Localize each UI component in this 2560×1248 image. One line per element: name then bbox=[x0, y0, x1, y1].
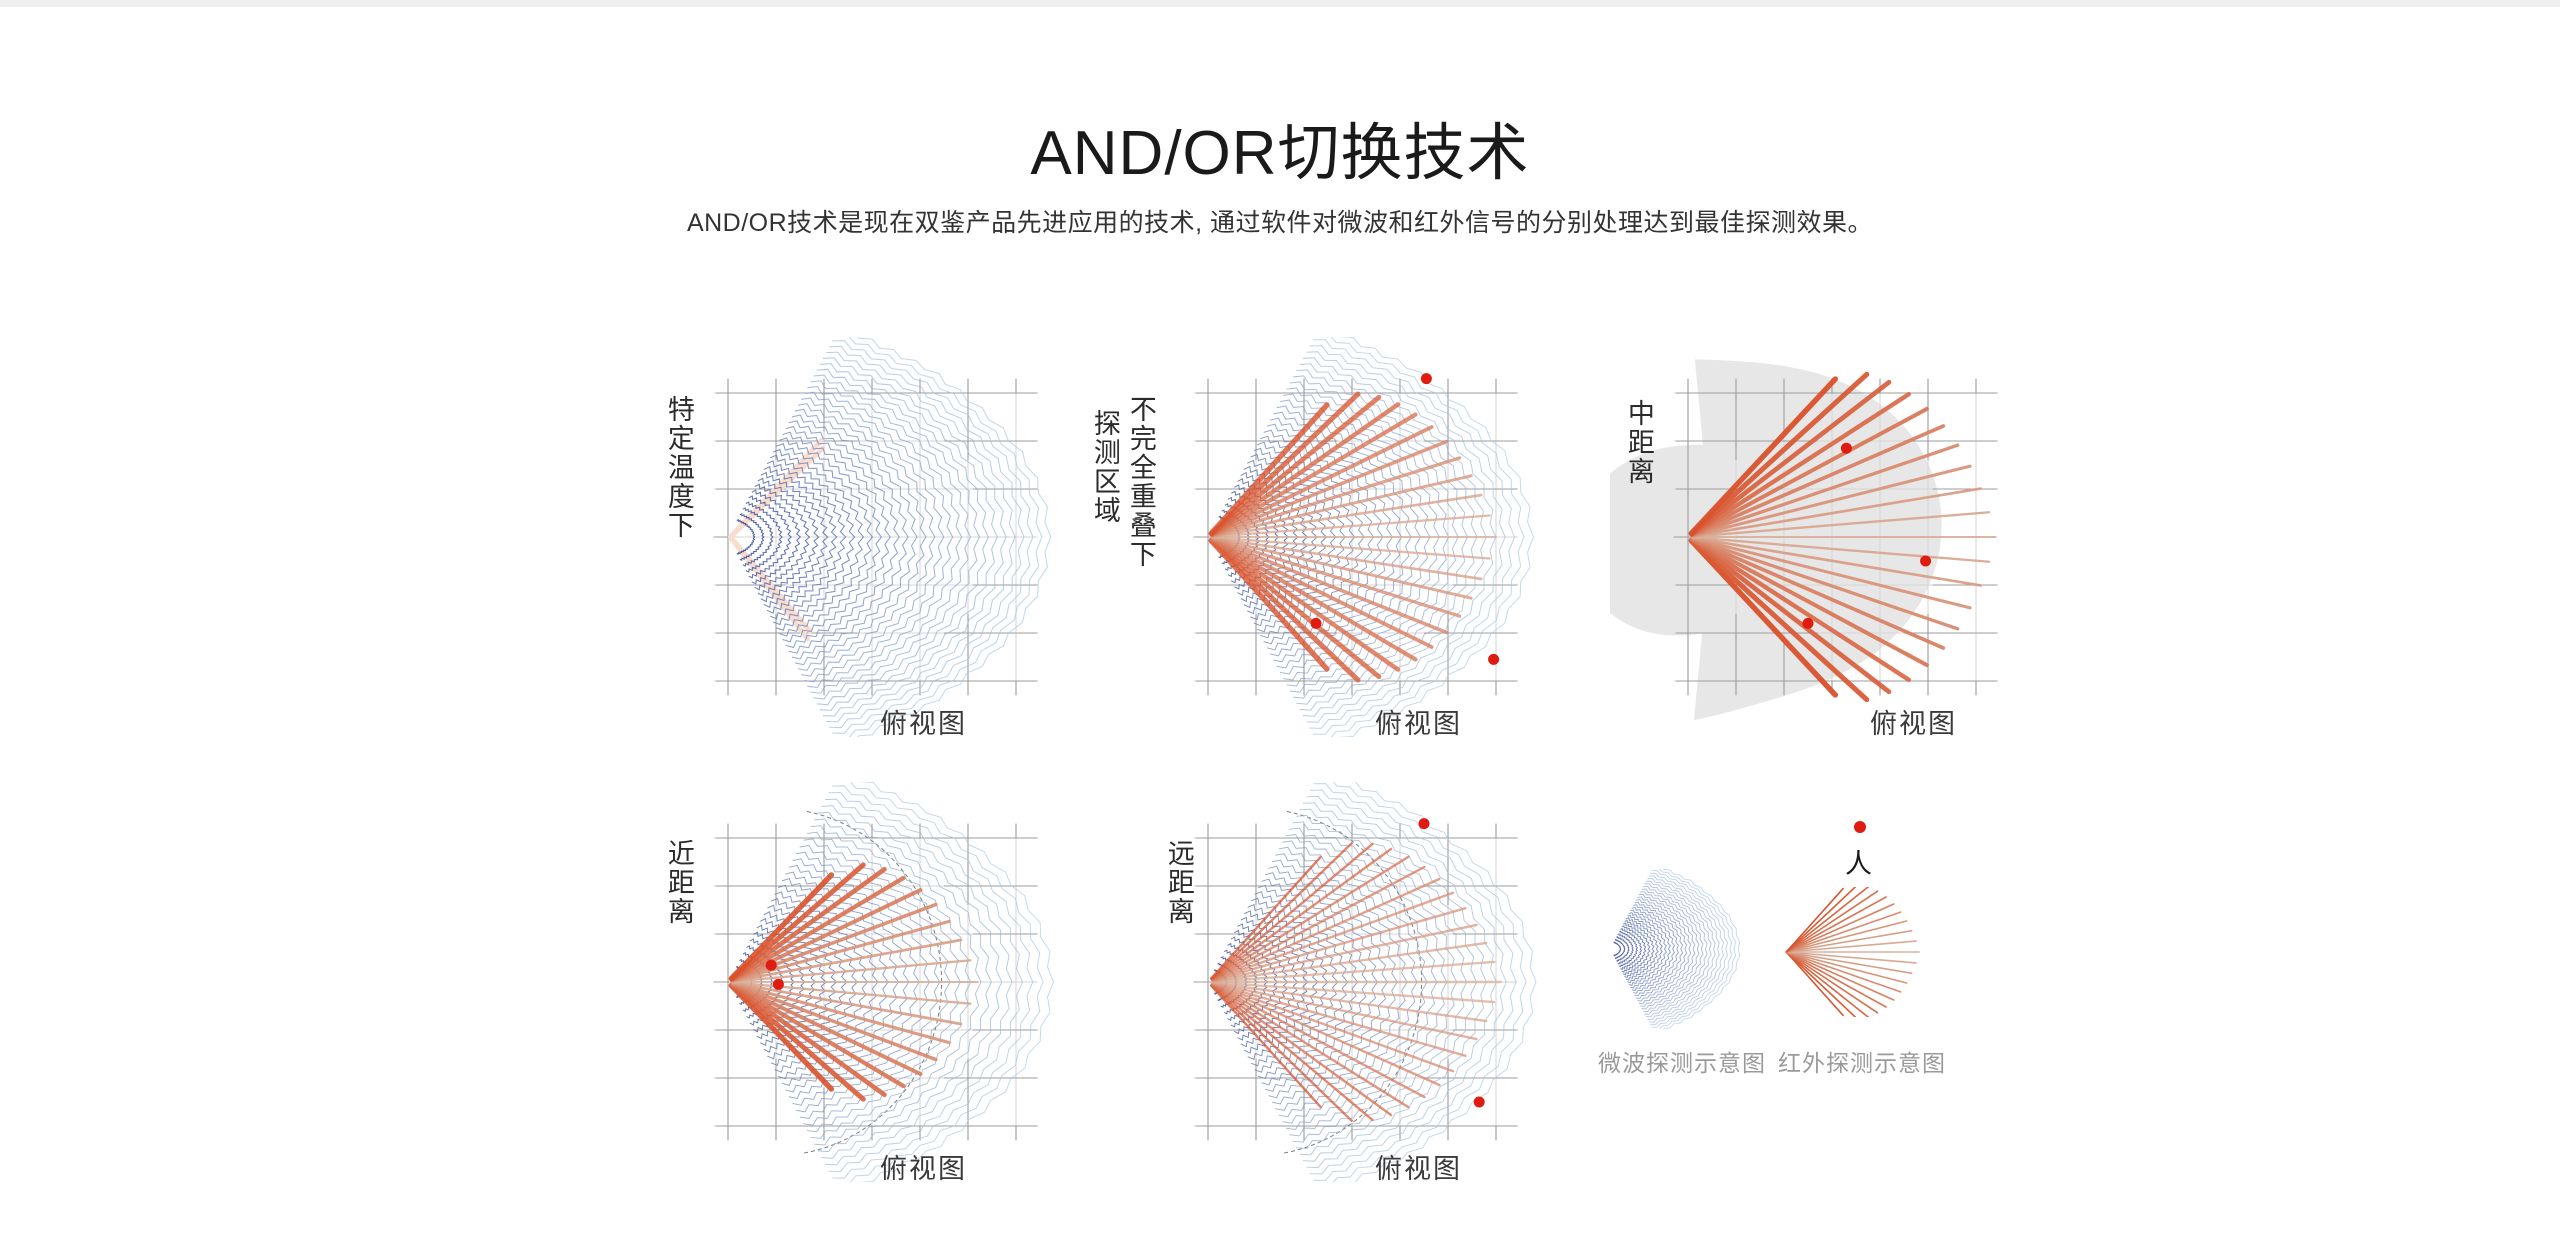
infrared-fan bbox=[1211, 394, 1496, 680]
panel-1-svg bbox=[650, 337, 1070, 737]
page-title: AND/OR切换技术 bbox=[0, 102, 2560, 192]
panel-3-svg bbox=[1610, 337, 2040, 737]
legend-microwave-caption: 微波探测示意图 bbox=[1598, 1044, 1766, 1078]
infrared-fan-icon bbox=[1780, 887, 1930, 1017]
panel-1-caption: 俯视图 bbox=[880, 702, 967, 741]
person-dot bbox=[1803, 618, 1814, 629]
diagram-panel-2[interactable] bbox=[1130, 337, 1550, 737]
coverage-blob bbox=[1610, 359, 1942, 720]
panel-2-caption: 俯视图 bbox=[1375, 702, 1462, 741]
panel-4-caption: 俯视图 bbox=[880, 1147, 967, 1186]
panel-5-vlabel-1: 远距离 bbox=[1162, 839, 1194, 926]
diagram-panel-3[interactable] bbox=[1610, 337, 2040, 737]
panel-3-caption: 俯视图 bbox=[1870, 702, 1957, 741]
diagram-panel-4[interactable] bbox=[650, 782, 1070, 1182]
panel-5-caption: 俯视图 bbox=[1375, 1147, 1462, 1186]
panel-1-vlabel-1: 特定温度下 bbox=[662, 395, 694, 540]
panel-4-svg bbox=[650, 782, 1070, 1182]
grid bbox=[714, 379, 1038, 696]
person-dot-icon bbox=[1840, 812, 1880, 842]
person-dot bbox=[1419, 818, 1430, 829]
person-dot bbox=[1421, 373, 1432, 384]
page-root: AND/OR切换技术 AND/OR技术是现在双鉴产品先进应用的技术, 通过软件对… bbox=[0, 7, 2560, 1248]
microwave-fan-icon bbox=[1608, 869, 1748, 1029]
person-dot bbox=[1488, 654, 1499, 665]
diagram-panel-1[interactable] bbox=[650, 337, 1070, 737]
person-dot bbox=[1311, 618, 1322, 629]
person-dot bbox=[1474, 1097, 1485, 1108]
panel-2-svg bbox=[1130, 337, 1550, 737]
legend-person-marker bbox=[1840, 812, 1880, 842]
person-dot bbox=[773, 979, 784, 990]
legend-infrared-caption: 红外探测示意图 bbox=[1778, 1044, 1946, 1078]
legend-infrared-shape bbox=[1780, 887, 1930, 1017]
infrared-fan bbox=[1211, 843, 1501, 1121]
legend-microwave-shape bbox=[1608, 869, 1748, 1029]
panel-2-vlabel-2: 不完全重叠下 bbox=[1124, 395, 1156, 569]
person-dot bbox=[1841, 443, 1852, 454]
panel-4-vlabel-1: 近距离 bbox=[662, 839, 694, 926]
legend-person-label: 人 bbox=[1845, 842, 1873, 881]
panel-2-vlabel-1: 探测区域 bbox=[1088, 409, 1120, 525]
top-strip bbox=[0, 0, 2560, 7]
person-dot bbox=[1920, 556, 1931, 567]
infrared-fan bbox=[731, 865, 977, 1099]
person-dot bbox=[766, 960, 777, 971]
panel-3-vlabel-1: 中距离 bbox=[1622, 399, 1654, 486]
page-subtitle: AND/OR技术是现在双鉴产品先进应用的技术, 通过软件对微波和红外信号的分别处… bbox=[0, 203, 2560, 239]
